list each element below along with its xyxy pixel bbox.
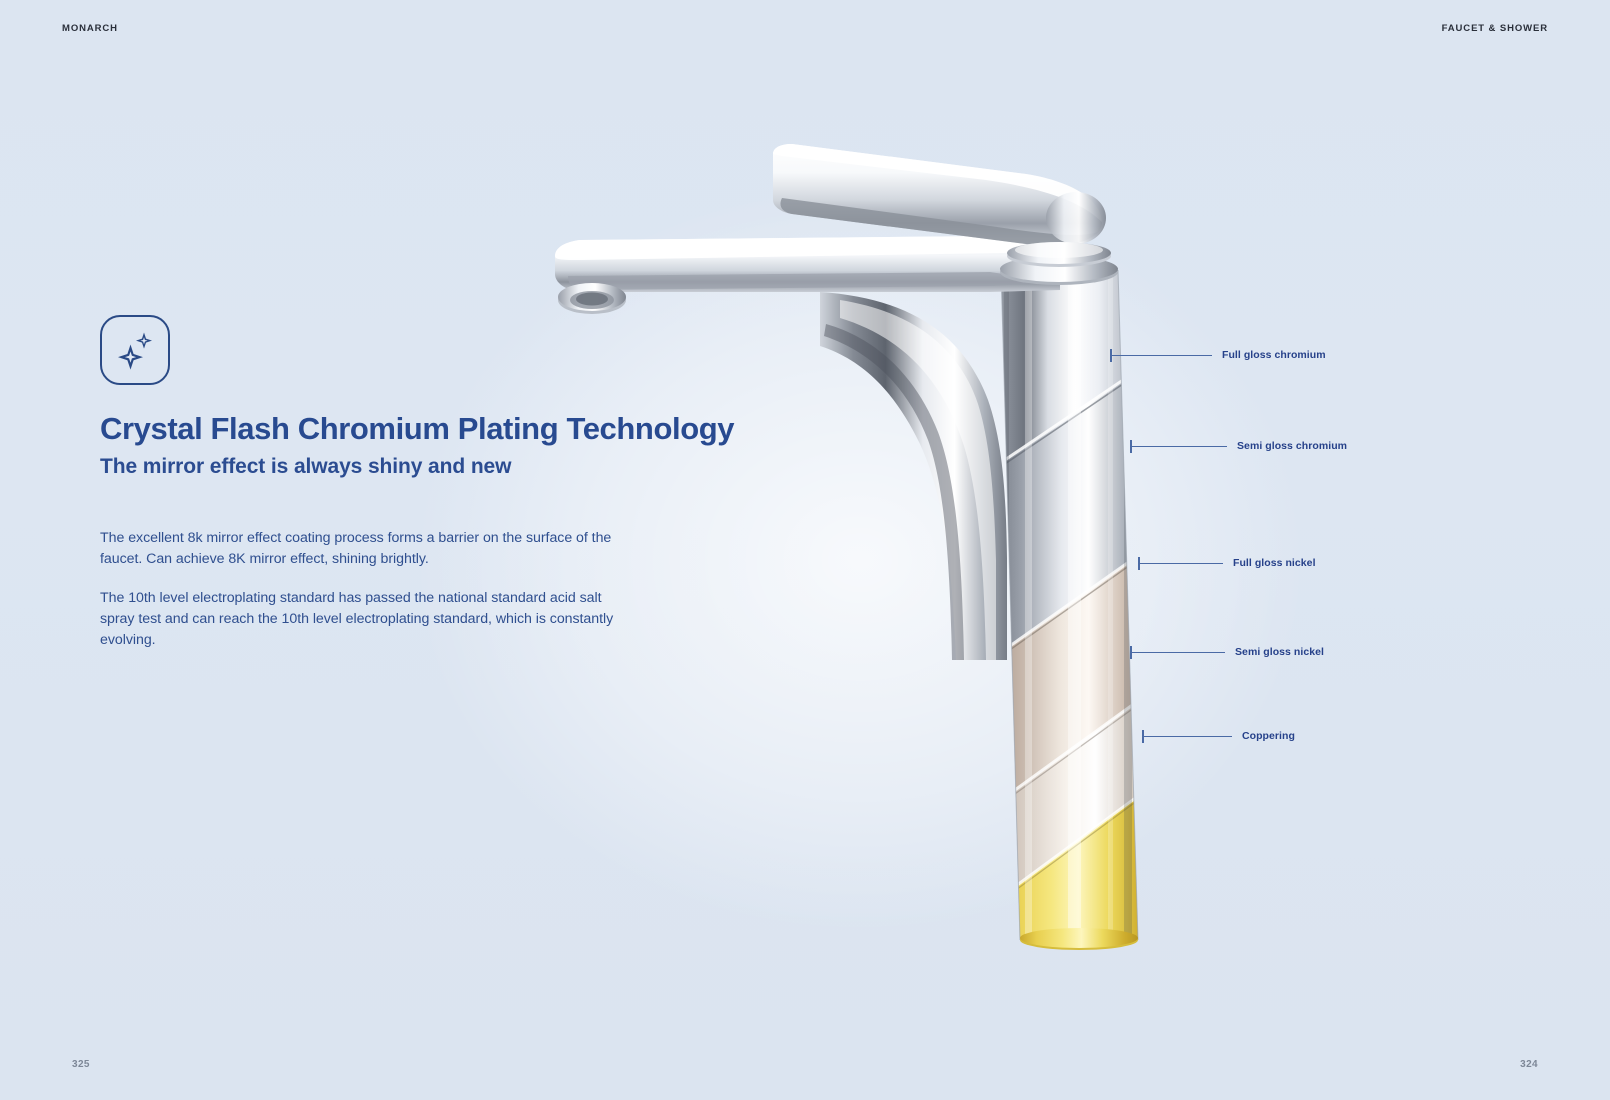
callout-leader-line [1144, 736, 1232, 737]
callout-label: Full gloss nickel [1233, 557, 1316, 569]
sparkle-icon-badge [100, 315, 170, 385]
callout-full-gloss-chromium: Full gloss chromium [1110, 348, 1326, 362]
callout-label: Coppering [1242, 730, 1295, 742]
callout-full-gloss-nickel: Full gloss nickel [1138, 556, 1316, 570]
catalog-page: MONARCH FAUCET & SHOWER Crystal Flash Ch… [0, 0, 1610, 1100]
folio-right: 324 [1520, 1059, 1538, 1070]
callout-label: Semi gloss chromium [1237, 440, 1347, 452]
callout-coppering: Coppering [1142, 729, 1295, 743]
faucet-illustration [520, 140, 1200, 990]
callout-label: Semi gloss nickel [1235, 646, 1324, 658]
callout-semi-gloss-chromium: Semi gloss chromium [1130, 439, 1347, 453]
sparkle-icon [113, 328, 157, 372]
callout-leader-line [1132, 446, 1227, 447]
folio-left: 325 [72, 1059, 90, 1070]
callout-label: Full gloss chromium [1222, 349, 1326, 361]
callout-leader-line [1140, 563, 1223, 564]
callout-list: Full gloss chromium Semi gloss chromium … [1110, 0, 1530, 1100]
running-head-left: MONARCH [62, 23, 118, 34]
callout-leader-line [1132, 652, 1225, 653]
callout-leader-line [1112, 355, 1212, 356]
callout-semi-gloss-nickel: Semi gloss nickel [1130, 645, 1324, 659]
